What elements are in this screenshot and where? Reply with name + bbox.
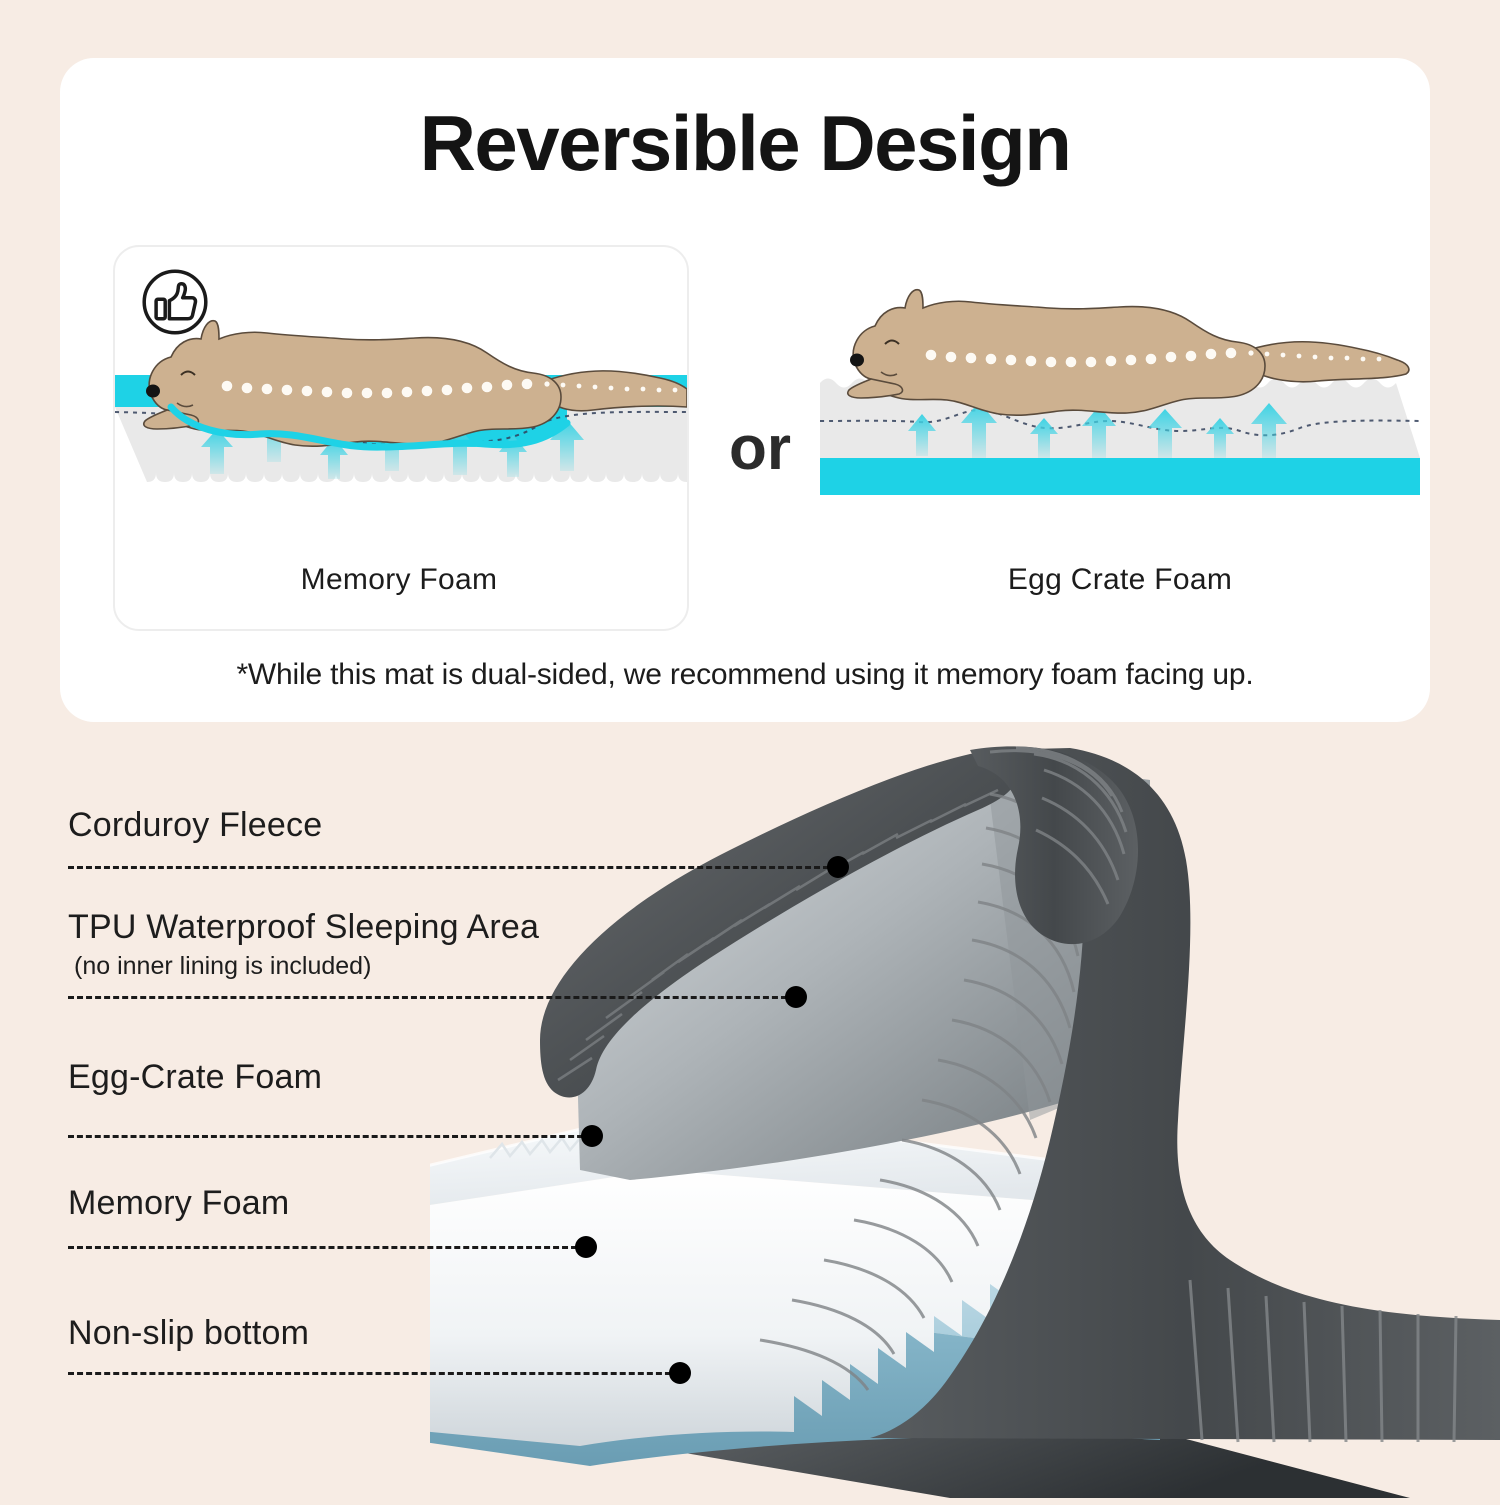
callout-leader-line: [68, 866, 838, 869]
callout-endpoint-dot: [785, 986, 807, 1008]
reversible-design-card: Reversible Design: [60, 58, 1430, 722]
egg-crate-foam-caption: Egg Crate Foam: [820, 563, 1420, 597]
callout-endpoint-dot: [827, 856, 849, 878]
exploded-product-image: [430, 740, 1500, 1500]
callout-sublabel: (no inner lining is included): [74, 952, 371, 981]
thumbs-up-icon: [140, 267, 210, 337]
or-divider-label: or: [700, 413, 820, 484]
dual-sided-footnote: *While this mat is dual-sided, we recomm…: [60, 658, 1430, 692]
egg-crate-foam-diagram: [820, 288, 1420, 578]
infographic-page: Reversible Design: [0, 0, 1500, 1500]
callout-label: Corduroy Fleece: [68, 806, 322, 845]
mat-layers-render: [430, 740, 1500, 1500]
page-title: Reversible Design: [60, 104, 1430, 182]
callout-label: Egg-Crate Foam: [68, 1058, 322, 1097]
callout-leader-line: [68, 1246, 586, 1249]
egg-crate-foam-panel: [820, 288, 1420, 578]
callout-label: Non-slip bottom: [68, 1314, 309, 1353]
callout-label: TPU Waterproof Sleeping Area: [68, 908, 539, 947]
callout-leader-line: [68, 996, 796, 999]
callout-leader-line: [68, 1372, 680, 1375]
callout-label: Memory Foam: [68, 1184, 289, 1223]
callout-endpoint-dot: [575, 1236, 597, 1258]
memory-foam-caption: Memory Foam: [113, 563, 685, 597]
callout-endpoint-dot: [669, 1362, 691, 1384]
callout-endpoint-dot: [581, 1125, 603, 1147]
callout-leader-line: [68, 1135, 592, 1138]
